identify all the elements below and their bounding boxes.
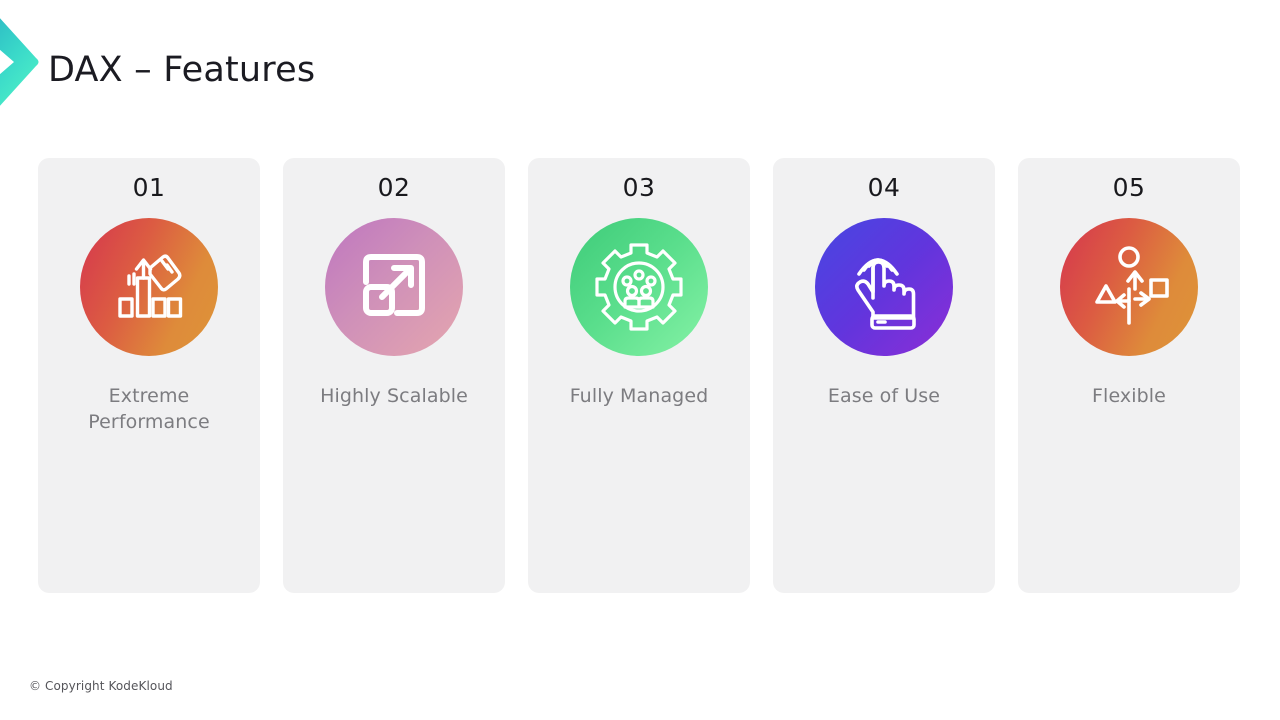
feature-card-flexible[interactable]: 05 xyxy=(1018,158,1240,593)
card-label: Ease of Use xyxy=(784,383,984,409)
slide-header: DAX – Features xyxy=(0,0,1280,140)
icon-badge xyxy=(80,218,218,356)
icon-badge xyxy=(570,218,708,356)
card-number: 01 xyxy=(133,172,166,205)
feature-card-extreme-performance[interactable]: 01 xyxy=(38,158,260,593)
card-label: Highly Scalable xyxy=(294,383,494,409)
feature-card-ease-of-use[interactable]: 04 Ease of Use xyxy=(773,158,995,593)
icon-badge xyxy=(815,218,953,356)
gear-team-icon xyxy=(591,239,687,335)
branching-arrows-shapes-icon xyxy=(1085,243,1173,331)
chevron-right-logo-icon xyxy=(0,14,44,110)
card-number: 05 xyxy=(1113,172,1146,205)
card-number: 03 xyxy=(623,172,656,205)
icon-badge xyxy=(325,218,463,356)
feature-card-fully-managed[interactable]: 03 Fully Ma xyxy=(528,158,750,593)
icon-badge xyxy=(1060,218,1198,356)
card-label: Extreme Performance xyxy=(49,383,249,435)
page-title: DAX – Features xyxy=(48,50,315,90)
card-number: 04 xyxy=(868,172,901,205)
card-number: 02 xyxy=(378,172,411,205)
hand-tap-icon xyxy=(843,244,925,330)
copyright-footer: © Copyright KodeKloud xyxy=(29,679,173,693)
bar-chart-speed-icon xyxy=(106,244,192,330)
feature-card-highly-scalable[interactable]: 02 Highly Scalable xyxy=(283,158,505,593)
card-label: Flexible xyxy=(1029,383,1229,409)
card-label: Fully Managed xyxy=(539,383,739,409)
features-card-row: 01 xyxy=(38,158,1242,593)
expand-arrow-icon xyxy=(354,247,434,327)
